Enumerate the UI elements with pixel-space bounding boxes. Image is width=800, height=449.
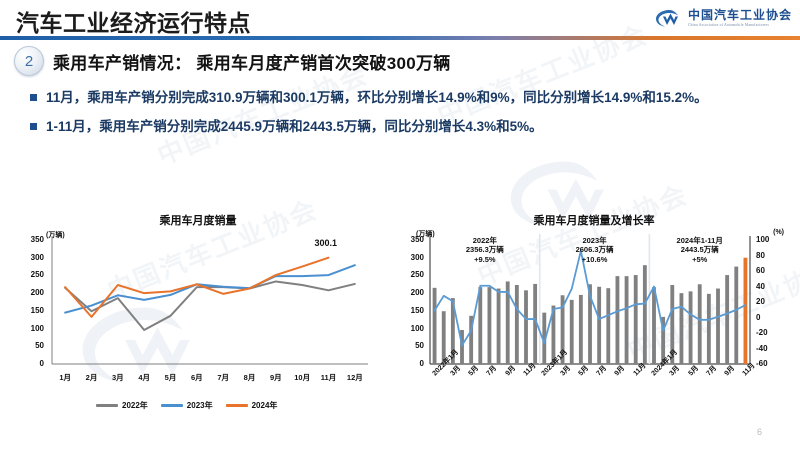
bar <box>652 287 656 364</box>
y-axis-left-tick-label: 150 <box>398 306 424 315</box>
y-axis-tick-label: 100 <box>18 324 44 333</box>
brand-logo: 中国汽车工业协会 China Association of Automobile… <box>653 6 792 30</box>
x-axis-tick-label: 9月 <box>262 372 290 383</box>
x-axis-tick-label: 10月 <box>288 372 316 383</box>
page-title: 汽车工业经济运行特点 <box>16 4 251 38</box>
y-axis-tick-label: 150 <box>18 306 44 315</box>
section-heading: 2 乘用车产销情况： 乘用车月度产销首次突破300万辆 <box>14 46 451 76</box>
bar <box>698 284 702 364</box>
bar <box>680 293 684 364</box>
x-axis-tick-label: 6月 <box>183 372 211 383</box>
y-axis-tick-label: 50 <box>18 341 44 350</box>
bar <box>725 275 729 364</box>
bar <box>524 290 528 364</box>
y-axis-right-tick-label: -60 <box>756 359 782 368</box>
y-axis-left-tick-label: 350 <box>398 235 424 244</box>
y-axis-tick-label: 300 <box>18 253 44 262</box>
x-axis-tick-label: 12月 <box>341 372 369 383</box>
section-title: 乘用车产销情况： 乘用车月度产销首次突破300万辆 <box>53 49 451 74</box>
bar <box>478 287 482 364</box>
y-axis-left-tick-label: 300 <box>398 253 424 262</box>
y-axis-tick-label: 250 <box>18 270 44 279</box>
x-axis-tick-label: 3月 <box>104 372 132 383</box>
y-axis-tick-label: 0 <box>18 359 44 368</box>
y-axis-right-tick-label: 40 <box>756 282 782 291</box>
list-item: 1-11月，乘用车产销分别完成2445.9万辆和2443.5万辆，同比分别增长4… <box>30 117 775 137</box>
bar <box>488 287 492 364</box>
bar <box>606 288 610 364</box>
page-number: 6 <box>757 427 762 437</box>
y-axis-right-tick-label: 20 <box>756 297 782 306</box>
chart-annotation: 2023年2606.3万辆+10.6% <box>550 236 640 264</box>
header-divider <box>0 36 800 40</box>
x-axis-tick-label: 8月 <box>236 372 264 383</box>
slide: 中国汽车工业协会 中国汽车工业协会 中国汽车工业协会 中国汽车工业协会 中国汽车… <box>0 0 800 449</box>
data-point-label: 300.1 <box>315 238 338 248</box>
chart-annotation: 2024年1-11月2443.5万辆+5% <box>655 236 745 264</box>
legend-label: 2024年 <box>252 400 278 411</box>
y-axis-left-tick-label: 50 <box>398 341 424 350</box>
legend-item[interactable]: 2023年 <box>161 400 213 411</box>
bar <box>515 285 519 364</box>
bar <box>570 300 574 364</box>
y-axis-right-tick-label: -40 <box>756 344 782 353</box>
caam-logo-icon <box>653 6 683 30</box>
y-axis-left-tick-label: 0 <box>398 359 424 368</box>
bullet-text: 11月，乘用车产销分别完成310.9万辆和300.1万辆，环比分别增长14.9%… <box>46 88 708 108</box>
y-axis-right-tick-label: 80 <box>756 251 782 260</box>
y-axis-left-tick-label: 250 <box>398 270 424 279</box>
bar <box>716 289 720 364</box>
y-axis-tick-label: 200 <box>18 288 44 297</box>
bar <box>579 295 583 364</box>
legend-label: 2023年 <box>187 400 213 411</box>
legend-color-swatch <box>226 404 248 407</box>
bar <box>597 287 601 364</box>
logo-title-cn: 中国汽车工业协会 <box>688 9 792 21</box>
chart-monthly-sales-and-growth-rate: 乘用车月度销量及增长率 (万辆) (%) 0501001502002503003… <box>398 212 790 422</box>
legend-color-swatch <box>161 404 183 407</box>
y-axis-right-tick-label: 0 <box>756 313 782 322</box>
bar <box>625 276 629 364</box>
y-axis-left-tick-label: 200 <box>398 288 424 297</box>
legend-color-swatch <box>96 404 118 407</box>
x-axis-tick-label: 4月 <box>130 372 158 383</box>
bar <box>744 258 748 364</box>
y-axis-tick-label: 350 <box>18 235 44 244</box>
bullet-square-icon <box>30 123 37 130</box>
legend-label: 2022年 <box>122 400 148 411</box>
logo-title-en: China Association of Automobile Manufact… <box>688 24 792 28</box>
x-axis-tick-label: 7月 <box>209 372 237 383</box>
bar <box>497 289 501 364</box>
bullet-square-icon <box>30 94 37 101</box>
section-number-badge: 2 <box>14 46 44 76</box>
list-item: 11月，乘用车产销分别完成310.9万辆和300.1万辆，环比分别增长14.9%… <box>30 88 775 108</box>
bar <box>734 267 738 364</box>
bar <box>634 275 638 364</box>
chart-annotation: 2022年2356.3万辆+9.5% <box>440 236 530 264</box>
bullet-list: 11月，乘用车产销分别完成310.9万辆和300.1万辆，环比分别增长14.9%… <box>30 88 775 147</box>
x-axis-tick-label: 5月 <box>157 372 185 383</box>
y-axis-right-tick-label: 60 <box>756 266 782 275</box>
legend-item[interactable]: 2022年 <box>96 400 148 411</box>
bar <box>643 265 647 364</box>
chart-legend: 2022年2023年2024年 <box>96 400 277 411</box>
chart-monthly-sales-by-year: 乘用车月度销量 (万辆) 2022年2023年2024年 05010015020… <box>18 212 378 422</box>
y-axis-right-tick-label: -20 <box>756 328 782 337</box>
bar <box>707 294 711 364</box>
y-axis-left-tick-label: 100 <box>398 324 424 333</box>
y-axis-right-tick-label: 100 <box>756 235 782 244</box>
bar <box>689 291 693 364</box>
x-axis-tick-label: 1月 <box>51 372 79 383</box>
slide-header: 汽车工业经济运行特点 中国汽车工业协会 China Association of… <box>0 0 800 42</box>
bar <box>433 288 437 364</box>
x-axis-tick-label: 2月 <box>78 372 106 383</box>
x-axis-tick-label: 11月 <box>315 372 343 383</box>
legend-item[interactable]: 2024年 <box>226 400 278 411</box>
bullet-text: 1-11月，乘用车产销分别完成2445.9万辆和2443.5万辆，同比分别增长4… <box>46 117 543 137</box>
bar <box>616 276 620 364</box>
